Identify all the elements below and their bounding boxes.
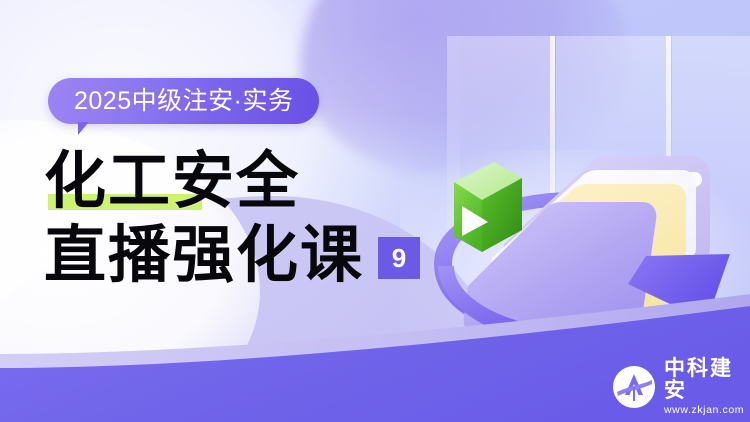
brand-name: 中科建安 <box>664 358 750 402</box>
badge-pill[interactable]: 2025中级注安·实务 <box>48 78 319 124</box>
headline-row-1: 化工安全 <box>44 150 420 212</box>
headline-block: 化工安全 直播强化课 9 <box>44 150 420 286</box>
brand-logo[interactable]: 中科建安 www.zkjan.com <box>612 358 750 416</box>
headline-line-1: 化工安全 <box>44 150 300 212</box>
course-category-badge[interactable]: 2025中级注安·实务 <box>48 78 319 124</box>
headline-line-2: 直播强化课 <box>44 224 364 286</box>
lesson-number-badge: 9 <box>378 237 420 279</box>
brand-url: www.zkjan.com <box>664 405 750 416</box>
logo-stem-shape <box>633 387 635 401</box>
headline-row-2: 直播强化课 9 <box>44 224 420 286</box>
brand-text-block: 中科建安 www.zkjan.com <box>664 358 750 416</box>
badge-tail-icon <box>78 122 89 135</box>
badge-label: 2025中级注安·实务 <box>74 89 293 114</box>
lesson-number: 9 <box>392 245 406 271</box>
course-banner: 2025中级注安·实务 化工安全 直播强化课 9 中科建安 www.zkjan.… <box>0 0 750 422</box>
zkjan-circle-logo-icon <box>612 365 656 409</box>
